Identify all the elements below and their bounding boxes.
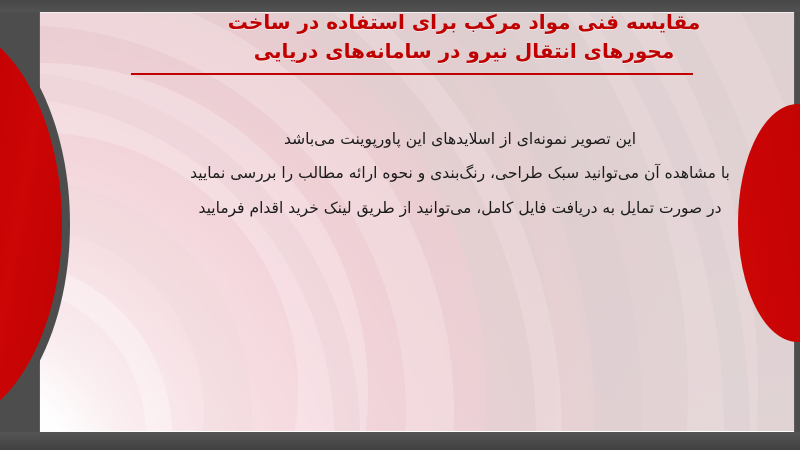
background-arc-band (40, 12, 562, 432)
background-arc-band (40, 12, 794, 432)
background-arc-band (40, 12, 642, 432)
background-arc-band (40, 12, 556, 432)
background-arc-band (40, 12, 454, 432)
slide-canvas: مقایسه فنی مواد مرکب برای استفاده در ساخ… (0, 0, 800, 450)
background-arc-pattern (40, 12, 794, 432)
background-arc-band (40, 63, 368, 432)
background-arc-band (40, 179, 252, 432)
background-arc-band (40, 71, 360, 432)
slide-page-panel (40, 12, 794, 432)
frame-bottom-bar (0, 432, 800, 450)
background-arc-band (40, 12, 750, 432)
frame-top-bar (0, 0, 800, 12)
background-arc-band (40, 12, 758, 432)
